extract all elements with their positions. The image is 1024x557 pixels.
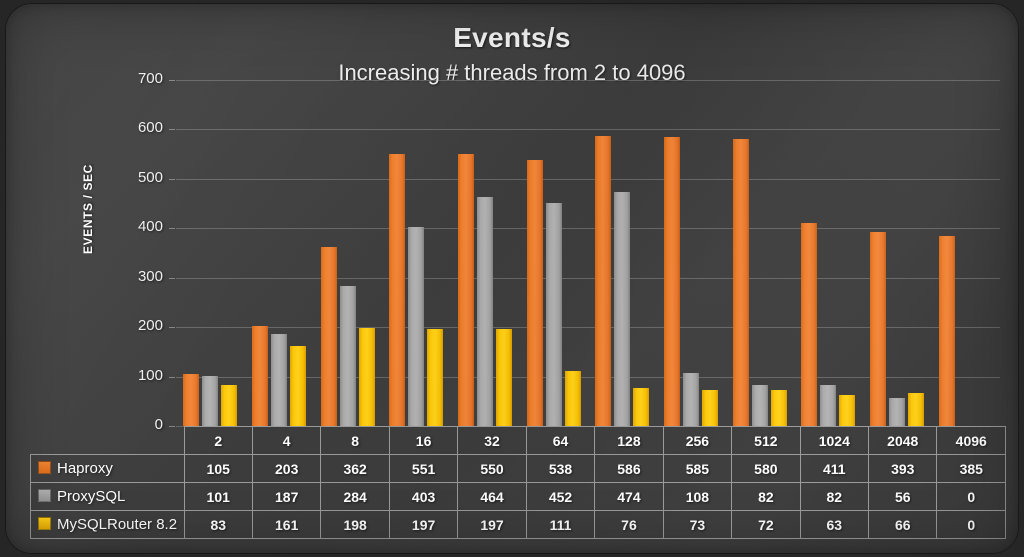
bar <box>614 192 630 426</box>
table-cell: 73 <box>663 511 731 539</box>
bar-group <box>176 80 245 426</box>
bar <box>839 395 855 426</box>
y-tick-label: 100 <box>119 367 163 384</box>
table-cell: 464 <box>458 483 526 511</box>
bar <box>889 398 905 426</box>
bar <box>565 371 581 426</box>
table-cell: 0 <box>937 483 1006 511</box>
table-column-header: 128 <box>595 427 663 455</box>
table-cell: 66 <box>869 511 937 539</box>
table-row: Haproxy105203362551550538586585580411393… <box>31 455 1006 483</box>
y-tick-mark <box>169 80 175 81</box>
bar <box>546 203 562 426</box>
table-cell: 82 <box>732 483 800 511</box>
bar <box>908 393 924 426</box>
y-tick-label: 700 <box>119 70 163 87</box>
table-column-header: 2 <box>184 427 252 455</box>
bar <box>664 137 680 426</box>
bar-group <box>863 80 932 426</box>
table-column-header: 2048 <box>869 427 937 455</box>
legend-swatch-icon <box>38 489 51 502</box>
bar <box>359 328 375 426</box>
table-cell: 284 <box>321 483 389 511</box>
table-cell: 76 <box>595 511 663 539</box>
bar-group <box>657 80 726 426</box>
bar <box>752 385 768 426</box>
table-cell: 411 <box>800 455 868 483</box>
table-row: MySQLRouter 8.28316119819719711176737263… <box>31 511 1006 539</box>
bar-group <box>313 80 382 426</box>
bar <box>870 232 886 426</box>
bar <box>801 223 817 426</box>
y-tick-mark <box>169 179 175 180</box>
bar <box>527 160 543 426</box>
table-cell: 72 <box>732 511 800 539</box>
bar <box>633 388 649 426</box>
table-cell: 203 <box>252 455 320 483</box>
bar <box>340 286 356 426</box>
table-cell: 586 <box>595 455 663 483</box>
bar <box>408 227 424 426</box>
y-tick-mark <box>169 278 175 279</box>
data-table: 248163264128256512102420484096 Haproxy10… <box>30 426 1006 539</box>
table-cell: 63 <box>800 511 868 539</box>
y-tick-label: 200 <box>119 317 163 334</box>
table-cell: 197 <box>389 511 457 539</box>
table-column-header: 512 <box>732 427 800 455</box>
bar <box>427 329 443 426</box>
legend-swatch-icon <box>38 461 51 474</box>
bar-group <box>794 80 863 426</box>
table-cell: 105 <box>184 455 252 483</box>
bar <box>702 390 718 426</box>
bar <box>458 154 474 426</box>
table-cell: 538 <box>526 455 594 483</box>
y-tick-mark <box>169 228 175 229</box>
bar <box>290 346 306 426</box>
bar <box>939 236 955 426</box>
legend-item-label: ProxySQL <box>57 488 125 505</box>
y-tick-label: 600 <box>119 119 163 136</box>
bar <box>733 139 749 426</box>
legend-item-mysqlrouter[interactable]: MySQLRouter 8.2 <box>31 511 185 539</box>
y-tick-label: 300 <box>119 268 163 285</box>
y-tick-label: 400 <box>119 218 163 235</box>
table-cell: 585 <box>663 455 731 483</box>
bar-group <box>588 80 657 426</box>
y-tick-mark <box>169 377 175 378</box>
table-cell: 82 <box>800 483 868 511</box>
legend-item-proxysql[interactable]: ProxySQL <box>31 483 185 511</box>
table-cell: 197 <box>458 511 526 539</box>
table-cell: 111 <box>526 511 594 539</box>
bar <box>389 154 405 426</box>
legend-swatch-icon <box>38 517 51 530</box>
table-cell: 187 <box>252 483 320 511</box>
table-column-header: 4 <box>252 427 320 455</box>
bar <box>496 329 512 426</box>
table-cell: 550 <box>458 455 526 483</box>
table-cell: 580 <box>732 455 800 483</box>
table-corner-cell <box>31 427 185 455</box>
table-cell: 0 <box>937 511 1006 539</box>
table-column-header: 256 <box>663 427 731 455</box>
table-cell: 198 <box>321 511 389 539</box>
plot-area <box>176 80 1000 426</box>
bar <box>321 247 337 426</box>
table-body: Haproxy105203362551550538586585580411393… <box>31 455 1006 539</box>
bar-group <box>245 80 314 426</box>
bar <box>252 326 268 426</box>
bar <box>683 373 699 426</box>
table-column-header: 1024 <box>800 427 868 455</box>
table-cell: 56 <box>869 483 937 511</box>
chart-frame: Events/s Increasing # threads from 2 to … <box>6 4 1018 553</box>
table-cell: 161 <box>252 511 320 539</box>
table-column-header: 32 <box>458 427 526 455</box>
bar <box>771 390 787 426</box>
table-cell: 83 <box>184 511 252 539</box>
table-cell: 108 <box>663 483 731 511</box>
y-tick-mark <box>169 129 175 130</box>
bar-group <box>382 80 451 426</box>
bar <box>183 374 199 426</box>
data-table-wrapper: 248163264128256512102420484096 Haproxy10… <box>30 426 1006 539</box>
bar <box>595 136 611 426</box>
legend-item-label: MySQLRouter 8.2 <box>57 516 177 533</box>
bar <box>820 385 836 426</box>
table-column-header: 4096 <box>937 427 1006 455</box>
legend-item-label: Haproxy <box>57 460 113 477</box>
table-column-header: 64 <box>526 427 594 455</box>
table-cell: 403 <box>389 483 457 511</box>
table-cell: 551 <box>389 455 457 483</box>
table-cell: 362 <box>321 455 389 483</box>
table-cell: 474 <box>595 483 663 511</box>
bar <box>271 334 287 426</box>
y-axis-title: EVENTS / SEC <box>81 129 95 289</box>
bar <box>477 197 493 426</box>
table-column-header: 16 <box>389 427 457 455</box>
table-cell: 452 <box>526 483 594 511</box>
chart-screenshot: Events/s Increasing # threads from 2 to … <box>0 0 1024 557</box>
bar-group <box>725 80 794 426</box>
y-tick-mark <box>169 327 175 328</box>
bar-group <box>931 80 1000 426</box>
chart-title: Events/s <box>6 22 1018 54</box>
bar-group <box>451 80 520 426</box>
legend-item-haproxy[interactable]: Haproxy <box>31 455 185 483</box>
table-row: ProxySQL1011872844034644524741088282560 <box>31 483 1006 511</box>
table-cell: 385 <box>937 455 1006 483</box>
table-column-header: 8 <box>321 427 389 455</box>
bar-group <box>519 80 588 426</box>
table-cell: 393 <box>869 455 937 483</box>
table-cell: 101 <box>184 483 252 511</box>
table-header-row: 248163264128256512102420484096 <box>31 427 1006 455</box>
bar <box>221 385 237 426</box>
bar <box>202 376 218 426</box>
y-tick-label: 500 <box>119 169 163 186</box>
